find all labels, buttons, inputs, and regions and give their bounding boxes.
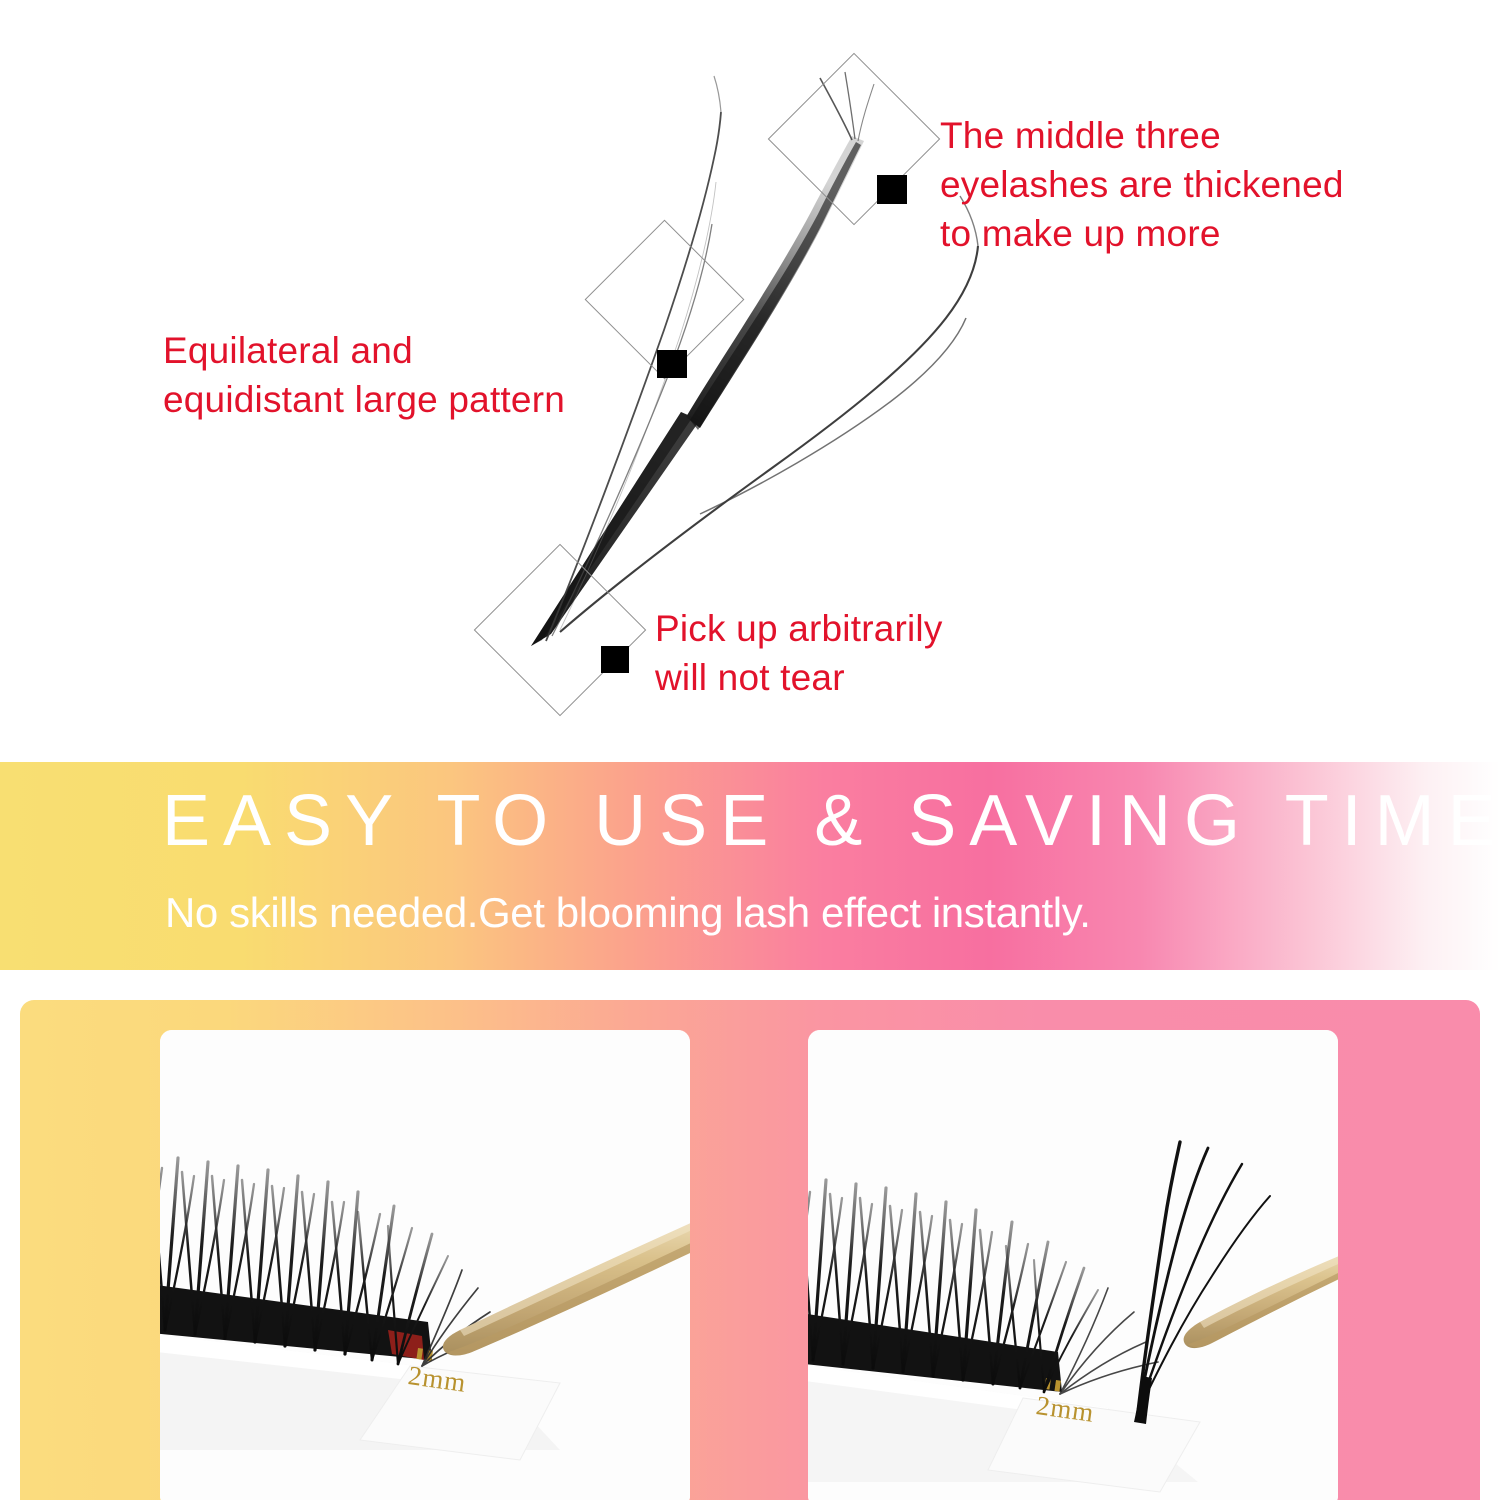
photo-tweezers-approaching: 2mm	[160, 1030, 690, 1500]
marker-dot-top	[877, 175, 907, 204]
photo-lash-fan-lifted: 2mm	[808, 1030, 1338, 1500]
banner-subtitle: No skills needed.Get blooming lash effec…	[165, 889, 1091, 937]
lash-diagram-stage: The middle three eyelashes are thickened…	[0, 0, 1500, 762]
annotation-pick-up-no-tear: Pick up arbitrarily will not tear	[655, 605, 943, 703]
photo-right-artwork	[808, 1030, 1338, 1500]
annotation-equilateral-equidistant: Equilateral and equidistant large patter…	[163, 327, 565, 425]
usage-photos-panel: 2mm	[20, 1000, 1480, 1500]
marker-dot-middle	[657, 350, 687, 378]
photo-left-artwork	[160, 1030, 690, 1500]
annotation-middle-three-thickened: The middle three eyelashes are thickened…	[940, 112, 1344, 258]
feature-diagram-section: The middle three eyelashes are thickened…	[0, 0, 1500, 762]
easy-to-use-banner: EASY TO USE & SAVING TIME No skills need…	[0, 762, 1500, 970]
banner-headline: EASY TO USE & SAVING TIME	[162, 780, 1500, 863]
marker-dot-bottom	[601, 646, 629, 673]
